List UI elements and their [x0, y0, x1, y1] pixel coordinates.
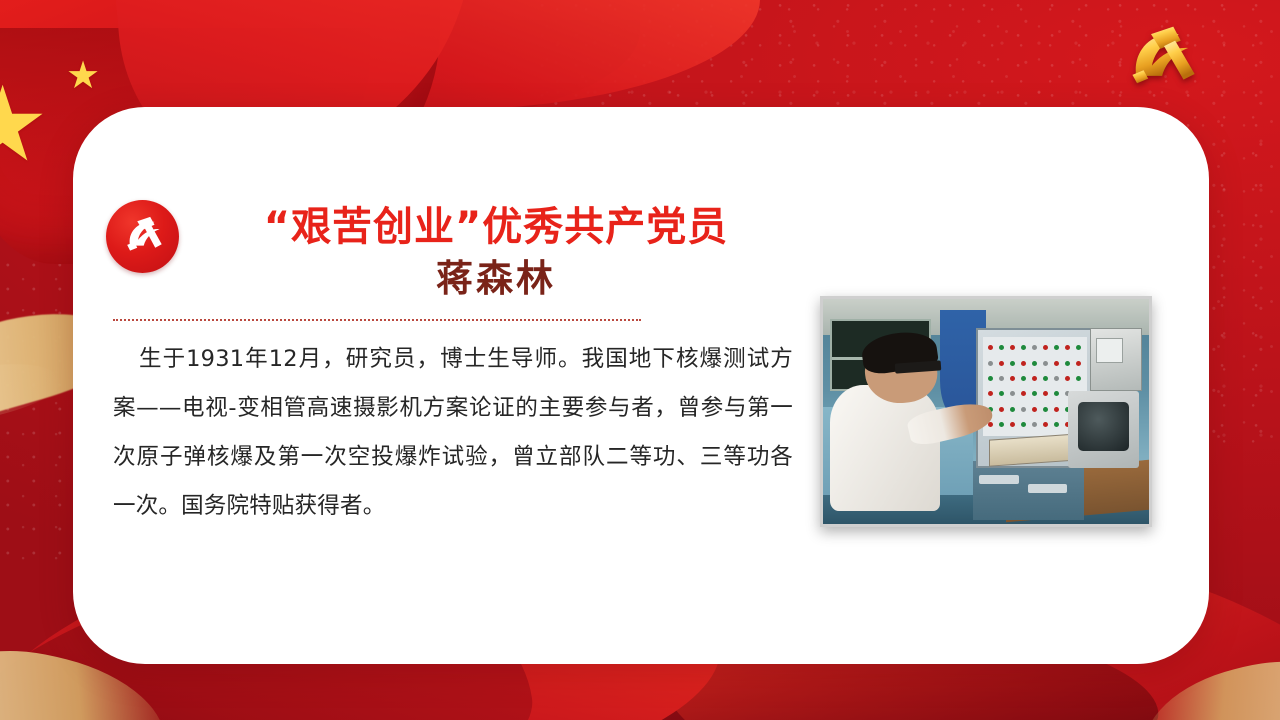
- portrait-photo: [820, 296, 1152, 527]
- photo-panel-switch: [1010, 391, 1015, 396]
- photo-panel-switch: [1010, 422, 1015, 427]
- photo-panel-switch: [1010, 345, 1015, 350]
- photo-drawer-handle-2: [1028, 484, 1067, 493]
- photo-panel-switch: [988, 345, 993, 350]
- photo-panel-switch: [1043, 345, 1048, 350]
- photo-panel-switch: [1043, 391, 1048, 396]
- biography-paragraph: 生于1931年12月，研究员，博士生导师。我国地下核爆测试方案——电视-变相管高…: [113, 335, 793, 531]
- photo-panel-switch: [1043, 422, 1048, 427]
- title-line-1: “艰苦创业”优秀共产党员: [201, 203, 791, 252]
- photo-panel-switch: [1043, 407, 1048, 412]
- photo-crt-monitor: [1068, 391, 1140, 468]
- photo-panel-switch: [1054, 407, 1059, 412]
- photo-man-torso: [830, 385, 941, 511]
- photo-panel-switch: [1032, 407, 1037, 412]
- cpc-party-badge-icon: [106, 200, 179, 273]
- photo-drawer-handle-1: [979, 475, 1018, 484]
- photo-panel-switch: [1010, 407, 1015, 412]
- photo-panel-switch: [1065, 376, 1070, 381]
- photo-panel-switch: [988, 376, 993, 381]
- photo-panel-switch: [999, 361, 1004, 366]
- slide-root: ★ ★ ★ ★ ★: [0, 0, 1280, 720]
- content-card: “艰苦创业”优秀共产党员 蒋森林 生于1931年12月，研究员，博士生导师。我国…: [73, 107, 1209, 664]
- photo-panel-switch: [1076, 345, 1081, 350]
- photo-panel-switch: [1021, 391, 1026, 396]
- photo-panel-switch: [1021, 376, 1026, 381]
- cpc-hammer-sickle-emblem: [1116, 22, 1212, 100]
- photo-panel-switch: [1054, 422, 1059, 427]
- photo-panel-switch: [988, 361, 993, 366]
- photo-panel-switch: [1010, 376, 1015, 381]
- photo-panel-switch: [999, 345, 1004, 350]
- photo-panel-switch: [999, 407, 1004, 412]
- photo-panel-switch: [1021, 422, 1026, 427]
- photo-panel-switch: [1065, 345, 1070, 350]
- photo-panel-switch: [1054, 391, 1059, 396]
- photo-panel-switch: [1021, 407, 1026, 412]
- photo-panel-switch: [1043, 376, 1048, 381]
- photo-panel-switch: [1021, 361, 1026, 366]
- photo-panel-switch: [1032, 376, 1037, 381]
- photo-panel-switch: [1054, 361, 1059, 366]
- page-title: “艰苦创业”优秀共产党员 蒋森林: [201, 203, 791, 300]
- portrait-photo-image: [823, 299, 1149, 524]
- photo-panel-switch: [1076, 376, 1081, 381]
- photo-instrument-rack: [1090, 328, 1142, 391]
- title-line-2-name: 蒋森林: [201, 256, 791, 300]
- photo-panel-switch: [1032, 422, 1037, 427]
- photo-panel-switch: [999, 376, 1004, 381]
- photo-panel-switch: [1065, 361, 1070, 366]
- photo-panel-switch: [1054, 376, 1059, 381]
- photo-panel-switch: [988, 391, 993, 396]
- photo-panel-switch: [1076, 361, 1081, 366]
- photo-panel-switch: [1032, 361, 1037, 366]
- photo-panel-switch: [999, 422, 1004, 427]
- photo-panel-switch: [1054, 345, 1059, 350]
- photo-panel-switch: [1032, 345, 1037, 350]
- dotted-divider: [113, 319, 641, 321]
- flag-star-large: ★: [0, 72, 49, 176]
- photo-panel-switch: [1010, 361, 1015, 366]
- photo-panel-switch: [1021, 345, 1026, 350]
- photo-panel-switch: [999, 391, 1004, 396]
- flag-star-small-1: ★: [66, 56, 100, 94]
- photo-panel-switch: [1043, 361, 1048, 366]
- photo-panel-switch: [1032, 391, 1037, 396]
